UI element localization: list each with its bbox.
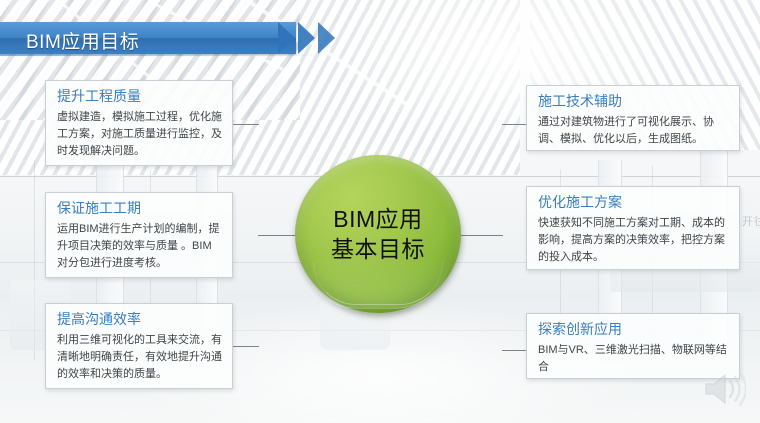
card-left-1[interactable]: 提升工程质量 虚拟建造，模拟施工过程，优化施工方案，对施工质量进行监控，及时发现…: [45, 80, 233, 166]
station-sign-secondary-text: 开往: [742, 216, 760, 228]
card-left-3[interactable]: 提高沟通效率 利用三维可视化的工具来交流，有清晰地明确责任，有效地提升沟通的效率…: [45, 303, 233, 389]
station-sign-secondary: 开往: [742, 213, 760, 229]
connector-left-stub-bottom: [232, 346, 259, 347]
card-left-3-heading: 提高沟通效率: [57, 311, 222, 329]
card-right-1-heading: 施工技术辅助: [538, 93, 729, 111]
chevron-icon-3: [318, 22, 335, 54]
center-circle-line-1: BIM应用: [333, 204, 422, 234]
card-right-1[interactable]: 施工技术辅助 通过对建筑物进行了可视化展示、协调、模拟、优化以后，生成图纸。: [526, 85, 740, 151]
card-right-3-heading: 探索创新应用: [538, 321, 729, 339]
card-right-2[interactable]: 优化施工方案 快速获知不同施工方案对工期、成本的影响，提高方案的决策效率，把控方…: [526, 186, 740, 270]
card-left-3-body: 利用三维可视化的工具来交流，有清晰地明确责任，有效地提升沟通的效率和决策的质量。: [57, 332, 222, 383]
card-left-2[interactable]: 保证施工工期 运用BIM进行生产计划的编制，提升项目决策的效率与质量 。BIM对…: [45, 192, 233, 278]
card-left-1-body: 虚拟建造，模拟施工过程，优化施工方案，对施工质量进行监控，及时发现解决问题。: [57, 109, 222, 160]
slide: 开往 TO DOWNTOWN 开往 BIM应用目标 提升工程质量 虚拟建造，模拟…: [0, 0, 760, 423]
center-circle-line-2: 基本目标: [331, 234, 425, 264]
center-circle[interactable]: BIM应用 基本目标: [295, 155, 467, 317]
chevron-icon-1: [278, 22, 295, 54]
card-right-1-body: 通过对建筑物进行了可视化展示、协调、模拟、优化以后，生成图纸。: [538, 114, 729, 148]
connector-right-stub-top: [502, 124, 529, 125]
card-right-2-heading: 优化施工方案: [538, 194, 729, 212]
card-left-2-heading: 保证施工工期: [57, 200, 222, 218]
card-left-1-heading: 提升工程质量: [57, 88, 222, 106]
banner-underline: [0, 54, 330, 56]
center-circle-text: BIM应用 基本目标: [295, 155, 461, 313]
page-title: BIM应用目标: [26, 27, 139, 54]
card-right-2-body: 快速获知不同施工方案对工期、成本的影响，提高方案的决策效率，把控方案的投入成本。: [538, 215, 729, 266]
card-left-2-body: 运用BIM进行生产计划的编制，提升项目决策的效率与质量 。BIM对分包进行进度考…: [57, 221, 222, 272]
speaker-icon[interactable]: [700, 369, 746, 409]
connector-left-stub-top: [232, 124, 259, 125]
chevron-icon-2: [298, 22, 315, 54]
connector-right-stub-bottom: [502, 350, 529, 351]
